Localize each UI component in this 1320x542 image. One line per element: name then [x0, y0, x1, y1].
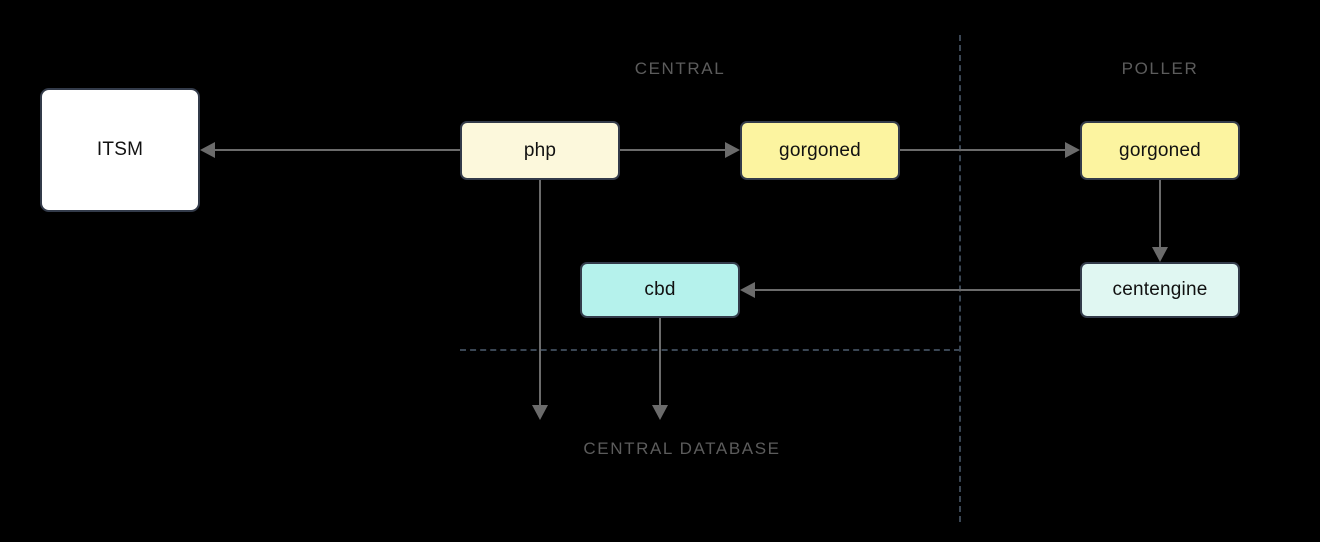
zone-label-central: CENTRAL [635, 59, 726, 79]
diagram-canvas: CENTRAL POLLER CENTRAL DATABASE ITSM php… [0, 0, 1320, 542]
zone-label-central-database: CENTRAL DATABASE [583, 439, 780, 459]
edge-php-to-itsm-line [215, 149, 460, 151]
edge-php-to-database-line [539, 180, 541, 405]
central-poller-divider [959, 35, 961, 522]
node-gorgoned-poller[interactable]: gorgoned [1080, 121, 1240, 180]
edge-php-to-itsm-arrowhead [200, 142, 215, 158]
node-centengine[interactable]: centengine [1080, 262, 1240, 318]
edge-php-to-database-arrowhead [532, 405, 548, 420]
zone-label-poller: POLLER [1122, 59, 1199, 79]
edge-php-to-gorgoned-central-arrowhead [725, 142, 740, 158]
node-gorgoned-central-label: gorgoned [779, 140, 861, 162]
edge-cbd-to-database-line [659, 318, 661, 405]
edge-centengine-to-cbd-arrowhead [740, 282, 755, 298]
edge-gorgoned-central-to-gorgoned-poller-arrowhead [1065, 142, 1080, 158]
edge-gorgoned-poller-to-centengine-line [1159, 180, 1161, 247]
node-gorgoned-poller-label: gorgoned [1119, 140, 1201, 162]
edge-gorgoned-poller-to-centengine-arrowhead [1152, 247, 1168, 262]
central-database-divider [460, 349, 960, 351]
node-cbd-label: cbd [644, 279, 675, 301]
node-itsm-label: ITSM [97, 139, 143, 161]
node-php-label: php [524, 140, 556, 162]
node-php[interactable]: php [460, 121, 620, 180]
edge-php-to-gorgoned-central-line [620, 149, 725, 151]
node-centengine-label: centengine [1113, 279, 1208, 301]
edge-gorgoned-central-to-gorgoned-poller-line [900, 149, 1065, 151]
edge-centengine-to-cbd-line [755, 289, 1080, 291]
edge-cbd-to-database-arrowhead [652, 405, 668, 420]
node-cbd[interactable]: cbd [580, 262, 740, 318]
node-gorgoned-central[interactable]: gorgoned [740, 121, 900, 180]
node-itsm[interactable]: ITSM [40, 88, 200, 212]
